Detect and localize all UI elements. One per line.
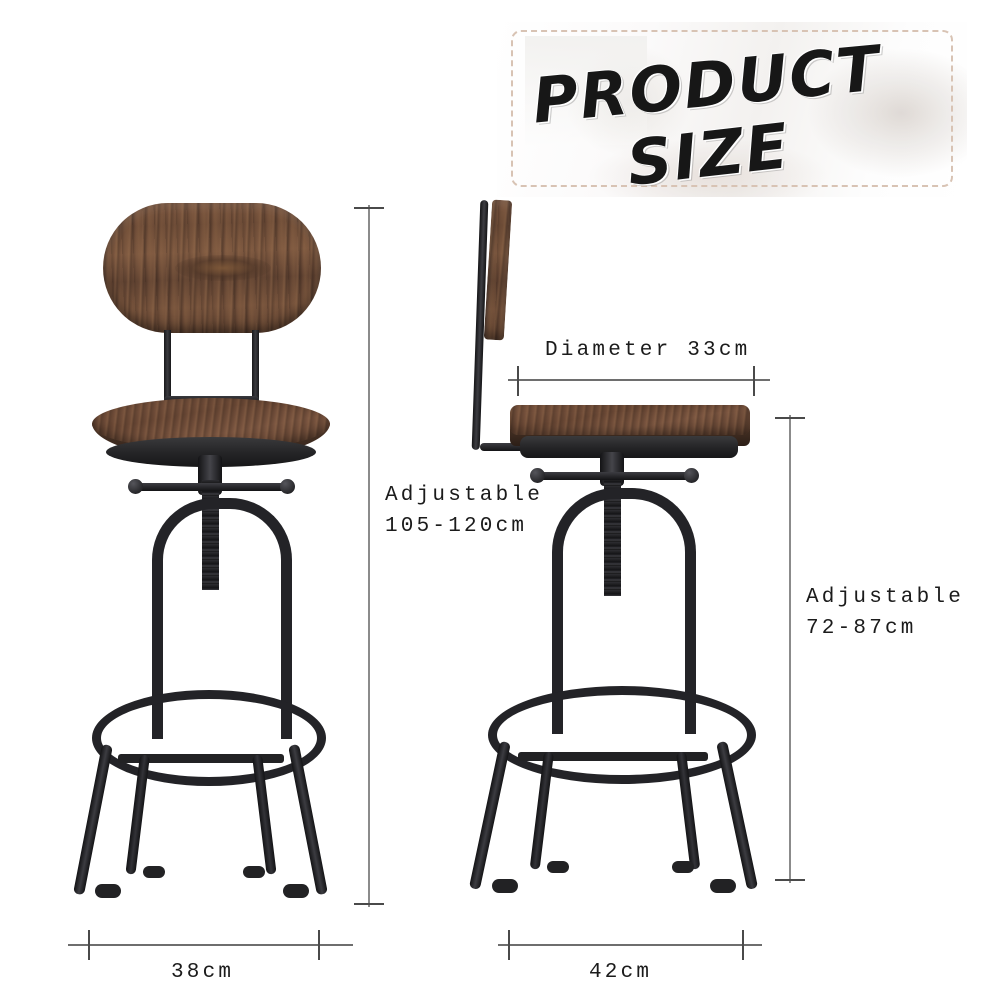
seat-mounting-plate-side <box>520 436 738 458</box>
height-front-line <box>368 205 370 907</box>
base-side-tick-left <box>508 930 510 960</box>
height-front-label-line2: 105-120cm <box>385 511 543 542</box>
base-front-label: 38cm <box>171 957 234 988</box>
leg-side-front-right <box>716 741 758 890</box>
base-side-label: 42cm <box>589 957 652 988</box>
seat-wood-top-side <box>510 405 750 435</box>
foot-cap-side-back-left <box>547 861 569 873</box>
handle-knob-right-side <box>684 468 699 483</box>
height-side-label: Adjustable 72-87cm <box>806 582 964 644</box>
base-front-line <box>68 944 353 946</box>
handle-knob-left <box>128 479 143 494</box>
leg-side-front-left <box>469 741 511 890</box>
height-side-label-line1: Adjustable <box>806 582 964 613</box>
backrest-post-left <box>164 330 171 402</box>
height-front-tick-bottom <box>354 903 384 905</box>
height-front-tick-top <box>354 207 384 209</box>
height-side-tick-bottom <box>775 879 805 881</box>
seat-diameter-tick-right <box>753 366 755 396</box>
seat-diameter-tick-left <box>517 366 519 396</box>
front-view-chair <box>0 0 400 960</box>
foot-cap-left <box>95 884 121 898</box>
base-front-tick-right <box>318 930 320 960</box>
base-side-tick-right <box>742 930 744 960</box>
height-front-label: Adjustable 105-120cm <box>385 480 543 542</box>
height-side-tick-top <box>775 417 805 419</box>
height-adjust-handle <box>133 483 289 491</box>
seat-diameter-label: Diameter 33cm <box>545 335 750 366</box>
height-adjust-handle-side <box>536 472 692 480</box>
base-front-tick-left <box>88 930 90 960</box>
height-front-label-line1: Adjustable <box>385 480 543 511</box>
backrest-wood-edge <box>484 200 513 341</box>
foot-ring <box>92 690 326 786</box>
leg-front-left <box>73 744 113 895</box>
base-side-line <box>498 944 762 946</box>
backrest-wood-knot <box>175 255 271 281</box>
foot-cap-side-back-right <box>672 861 694 873</box>
foot-cap-back-right <box>243 866 265 878</box>
foot-cap-side-left <box>492 879 518 893</box>
foot-cap-back-left <box>143 866 165 878</box>
leg-front-right <box>288 744 328 895</box>
seat-diameter-line <box>508 379 770 381</box>
handle-knob-right <box>280 479 295 494</box>
backrest-post-right <box>252 330 259 402</box>
foot-ring-side <box>488 686 756 784</box>
height-side-line <box>789 415 791 883</box>
foot-cap-side-right <box>710 879 736 893</box>
foot-cap-right <box>283 884 309 898</box>
height-side-label-line2: 72-87cm <box>806 613 964 644</box>
product-size-infographic: PRODUCT SIZE <box>0 0 1000 1000</box>
